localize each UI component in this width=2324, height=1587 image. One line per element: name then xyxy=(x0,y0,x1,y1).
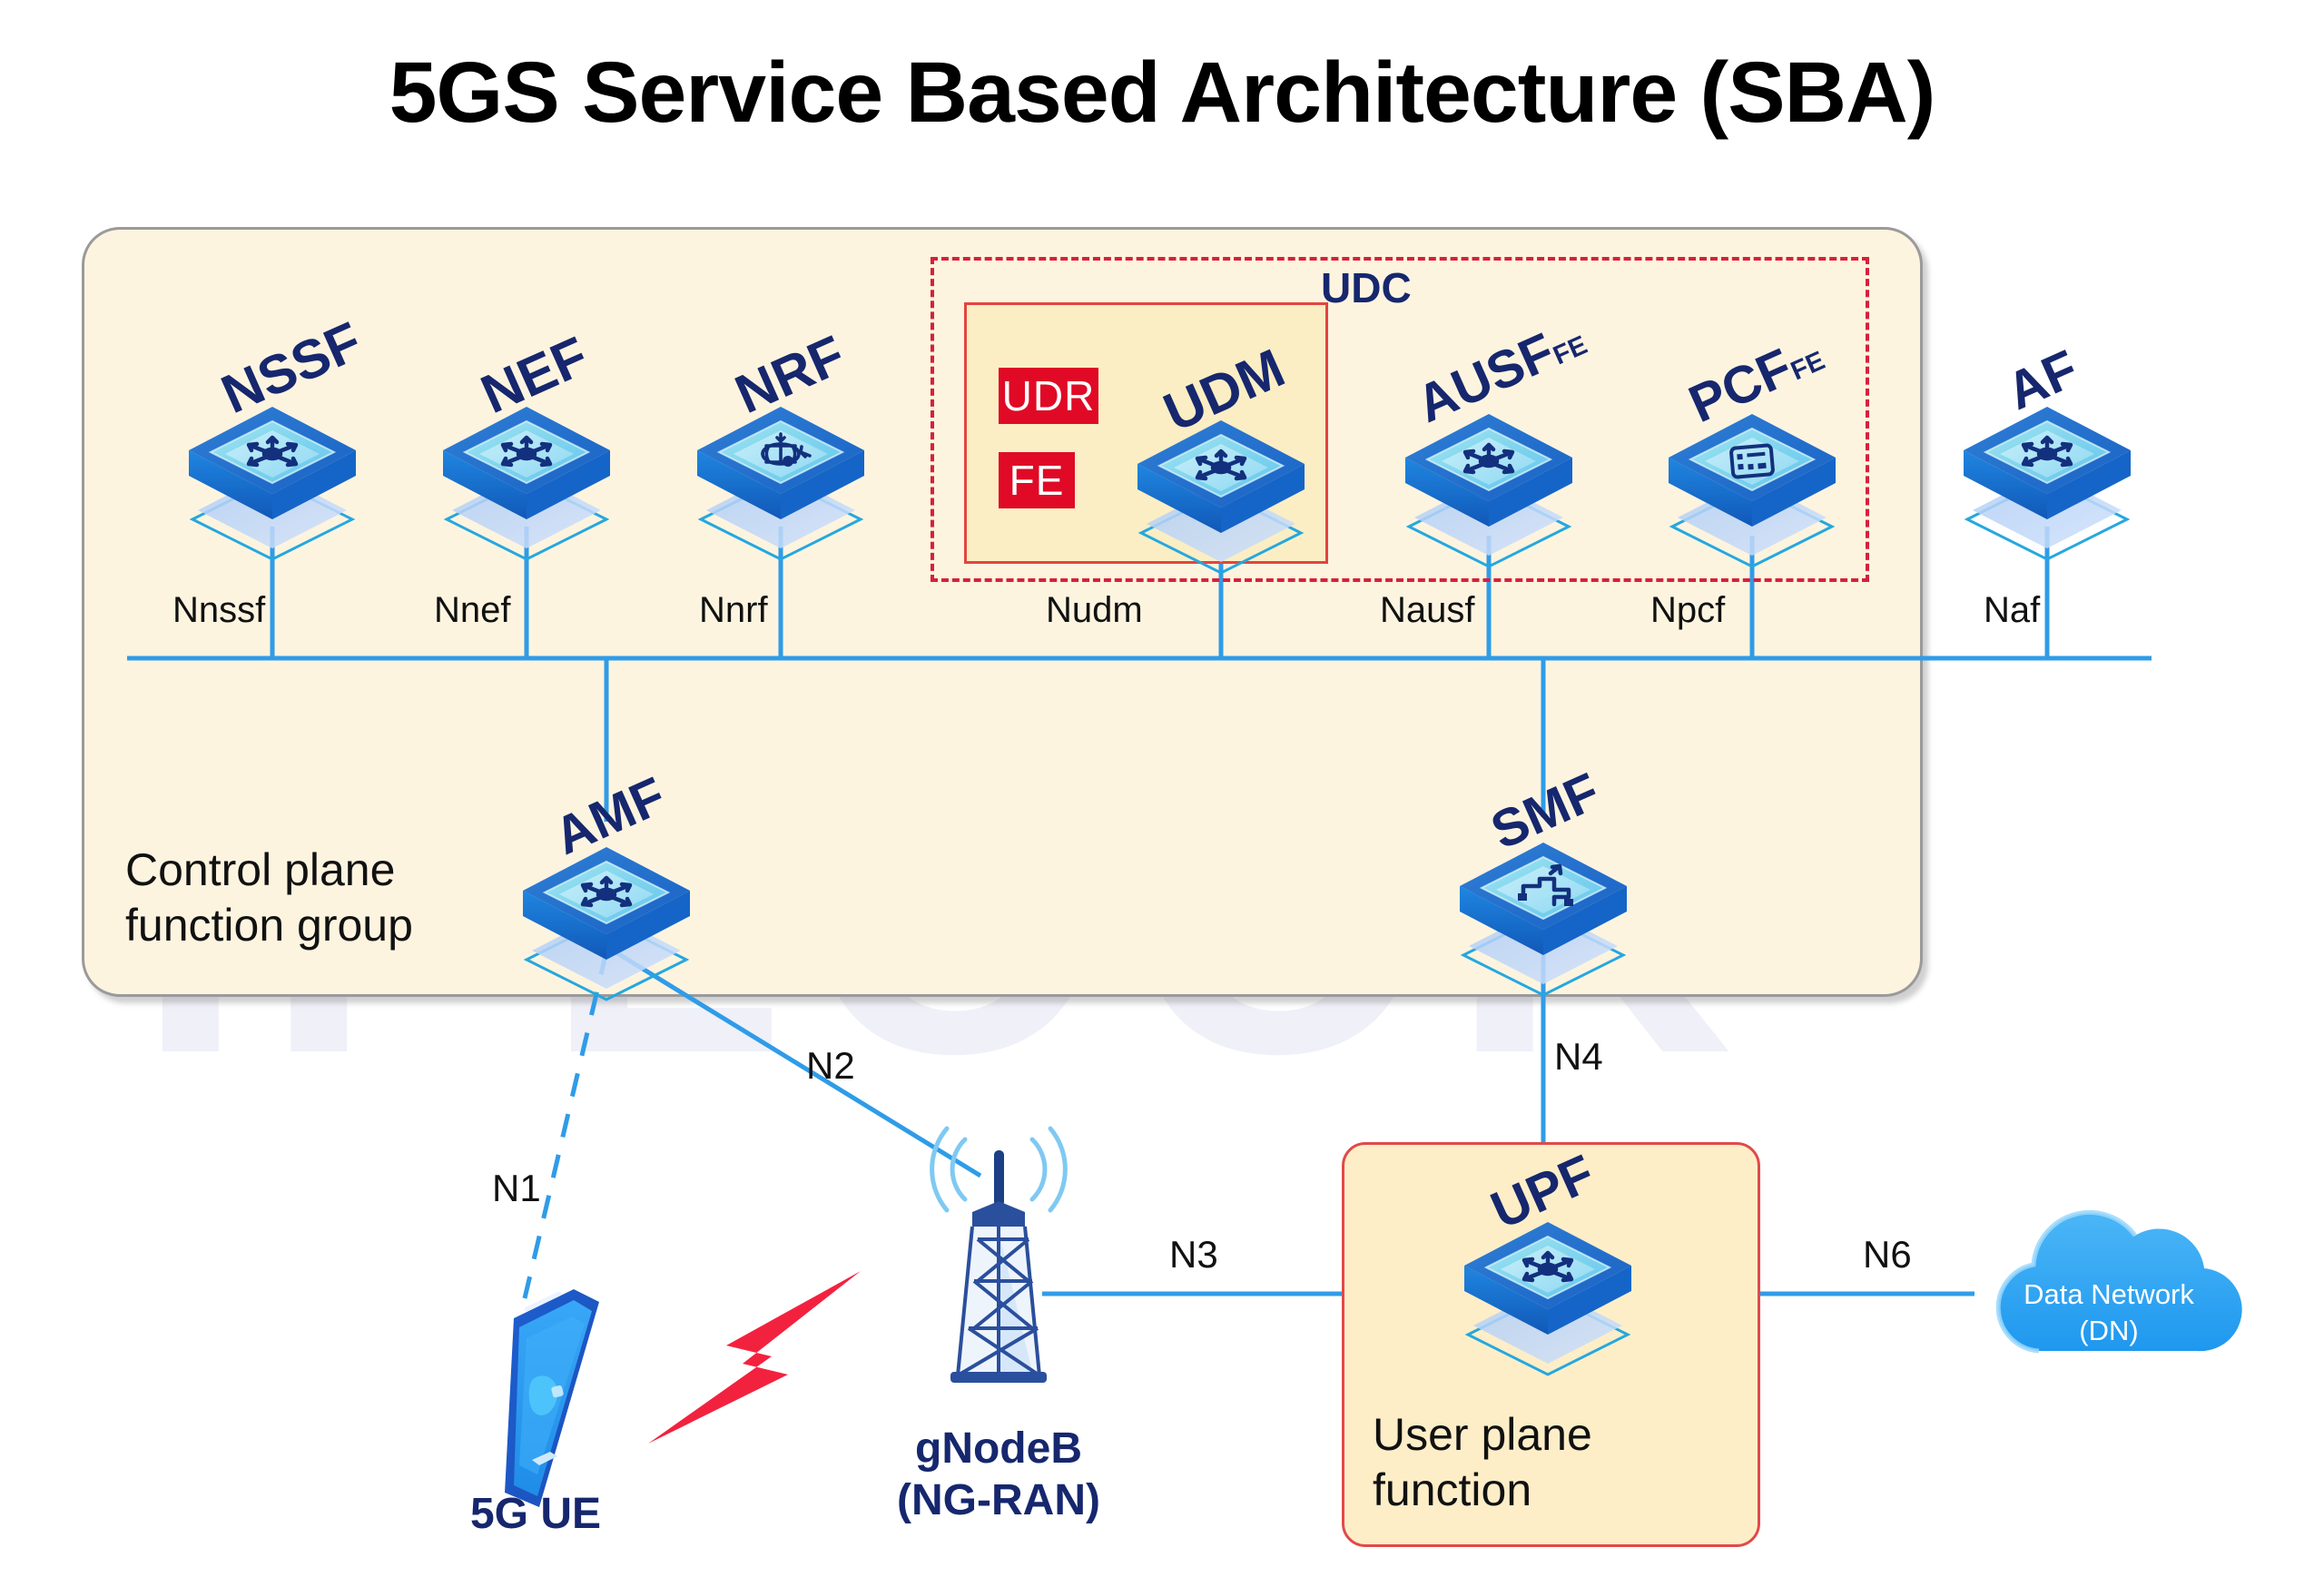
gnodeb-label-line1: gNodeB xyxy=(862,1424,1135,1475)
diagram-canvas: IPLOOK 5GS Service Based Architecture (S… xyxy=(0,0,2324,1587)
service-label-naf: Naf xyxy=(1984,590,2040,631)
fe-badge: FE xyxy=(999,452,1075,508)
service-label-nnrf: Nnrf xyxy=(699,590,768,631)
page-title: 5GS Service Based Architecture (SBA) xyxy=(0,44,2324,143)
control-plane-caption-line2: function group xyxy=(125,898,413,953)
ue-label: 5G UE xyxy=(418,1489,654,1541)
interface-label-n1: N1 xyxy=(492,1167,541,1210)
nf-node-pcf[interactable] xyxy=(1661,389,1843,570)
interface-label-n3: N3 xyxy=(1169,1233,1218,1276)
interface-label-n6: N6 xyxy=(1863,1233,1912,1276)
service-label-nnef: Nnef xyxy=(434,590,511,631)
udr-badge: UDR xyxy=(999,368,1098,424)
gnodeb-label-line2: (NG-RAN) xyxy=(862,1475,1135,1527)
gnodeb-tower[interactable] xyxy=(894,1103,1103,1394)
gnodeb-label: gNodeB (NG-RAN) xyxy=(862,1424,1135,1526)
udc-label: UDC xyxy=(1321,263,1412,312)
control-plane-caption: Control plane function group xyxy=(125,843,413,953)
control-plane-caption-line1: Control plane xyxy=(125,843,413,898)
service-label-nausf: Nausf xyxy=(1380,590,1475,631)
service-label-nnssf: Nnssf xyxy=(172,590,265,631)
radio-link-bolt-icon xyxy=(635,1262,871,1453)
service-label-nudm: Nudm xyxy=(1046,590,1143,631)
interface-label-n2: N2 xyxy=(806,1044,855,1088)
interface-label-n4: N4 xyxy=(1554,1035,1603,1079)
service-label-npcf: Npcf xyxy=(1650,590,1725,631)
data-network-cloud[interactable]: Data Network (DN) xyxy=(1968,1198,2250,1380)
user-plane-caption-line1: User plane xyxy=(1373,1407,1592,1463)
user-plane-caption-line2: function xyxy=(1373,1463,1592,1518)
nf-node-upf[interactable] xyxy=(1457,1197,1639,1378)
user-plane-caption: User plane function xyxy=(1373,1407,1592,1518)
